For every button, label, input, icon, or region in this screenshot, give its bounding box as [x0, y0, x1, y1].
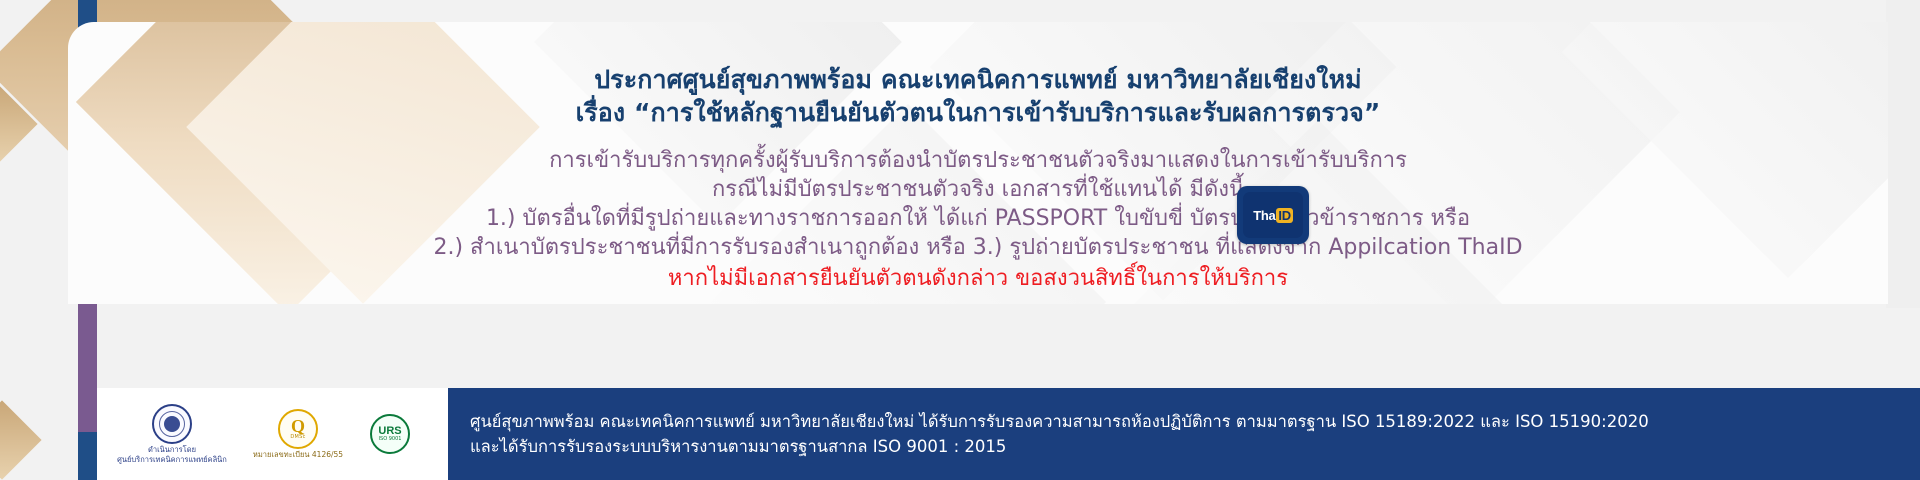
announcement-body-line-4: 2.) สำเนาบัตรประชาชนที่มีการรับรองสำเนาถ…: [68, 233, 1888, 262]
gold-diamond-bottom-icon: [0, 400, 42, 479]
thaid-app-badge: ThaID: [1237, 186, 1309, 244]
logo-urs-iso: URS ISO 9001: [344, 414, 436, 455]
logo-cmu-caption-2: ศูนย์บริการเทคนิคการแพทย์คลินิก: [92, 455, 252, 465]
logo-cmu-clinic: ดำเนินการโดย ศูนย์บริการเทคนิคการแพทย์คล…: [92, 404, 252, 464]
cmu-seal-mark-icon: [164, 416, 180, 432]
thaid-badge-label: ThaID: [1253, 208, 1293, 223]
logo-dmsc-q: Q DMSc หมายเลขทะเบียน 4126/55: [252, 409, 344, 460]
thaid-badge-label-main: Tha: [1253, 208, 1275, 223]
announcement-body-line-1: การเข้ารับบริการทุกครั้งผู้รับบริการต้อง…: [68, 146, 1888, 175]
announcement-body-line-3: 1.) บัตรอื่นใดที่มีรูปถ่ายและทางราชการออ…: [68, 204, 1888, 233]
footer-accreditation-bar: ศูนย์สุขภาพพร้อม คณะเทคนิคการแพทย์ มหาวิ…: [448, 388, 1920, 480]
announcement-warning-line: หากไม่มีเอกสารยืนยันตัวตนดังกล่าว ขอสงวน…: [68, 264, 1888, 294]
accreditation-logo-strip: ดำเนินการโดย ศูนย์บริการเทคนิคการแพทย์คล…: [97, 388, 448, 480]
urs-iso-seal-icon: URS ISO 9001: [370, 414, 410, 454]
announcement-text-block: ประกาศศูนย์สุขภาพพร้อม คณะเทคนิคการแพทย์…: [68, 22, 1888, 294]
announcement-title-line-1: ประกาศศูนย์สุขภาพพร้อม คณะเทคนิคการแพทย์…: [68, 64, 1888, 96]
announcement-banner: ประกาศศูนย์สุขภาพพร้อม คณะเทคนิคการแพทย์…: [0, 0, 1920, 480]
footer-line-2: และได้รับการรับรองระบบบริหารงานตามมาตรฐา…: [470, 434, 1649, 459]
thaid-badge-label-accent: ID: [1276, 208, 1292, 223]
footer-line-1: ศูนย์สุขภาพพร้อม คณะเทคนิคการแพทย์ มหาวิ…: [470, 409, 1649, 434]
urs-glyph: URS: [378, 426, 401, 436]
footer-text-group: ศูนย์สุขภาพพร้อม คณะเทคนิคการแพทย์ มหาวิ…: [470, 409, 1649, 459]
content-card: ประกาศศูนย์สุขภาพพร้อม คณะเทคนิคการแพทย์…: [68, 22, 1888, 304]
right-grey-band: [1886, 0, 1920, 308]
logo-cmu-caption-1: ดำเนินการโดย: [92, 445, 252, 455]
urs-glyph-sub: ISO 9001: [379, 436, 402, 442]
announcement-body-line-2: กรณีไม่มีบัตรประชาชนตัวจริง เอกสารที่ใช้…: [68, 175, 1888, 204]
dmsc-q-glyph-sub: DMSc: [290, 434, 305, 440]
announcement-title-line-2: เรื่อง “การใช้หลักฐานยืนยันตัวตนในการเข้…: [68, 97, 1888, 129]
logo-dmsc-caption: หมายเลขทะเบียน 4126/55: [252, 450, 344, 460]
cmu-clinic-seal-icon: [152, 404, 192, 444]
dmsc-q-glyph: Q: [291, 418, 305, 434]
thaid-badge-inner: ThaID: [1243, 192, 1303, 238]
dmsc-q-seal-icon: Q DMSc: [278, 409, 318, 449]
